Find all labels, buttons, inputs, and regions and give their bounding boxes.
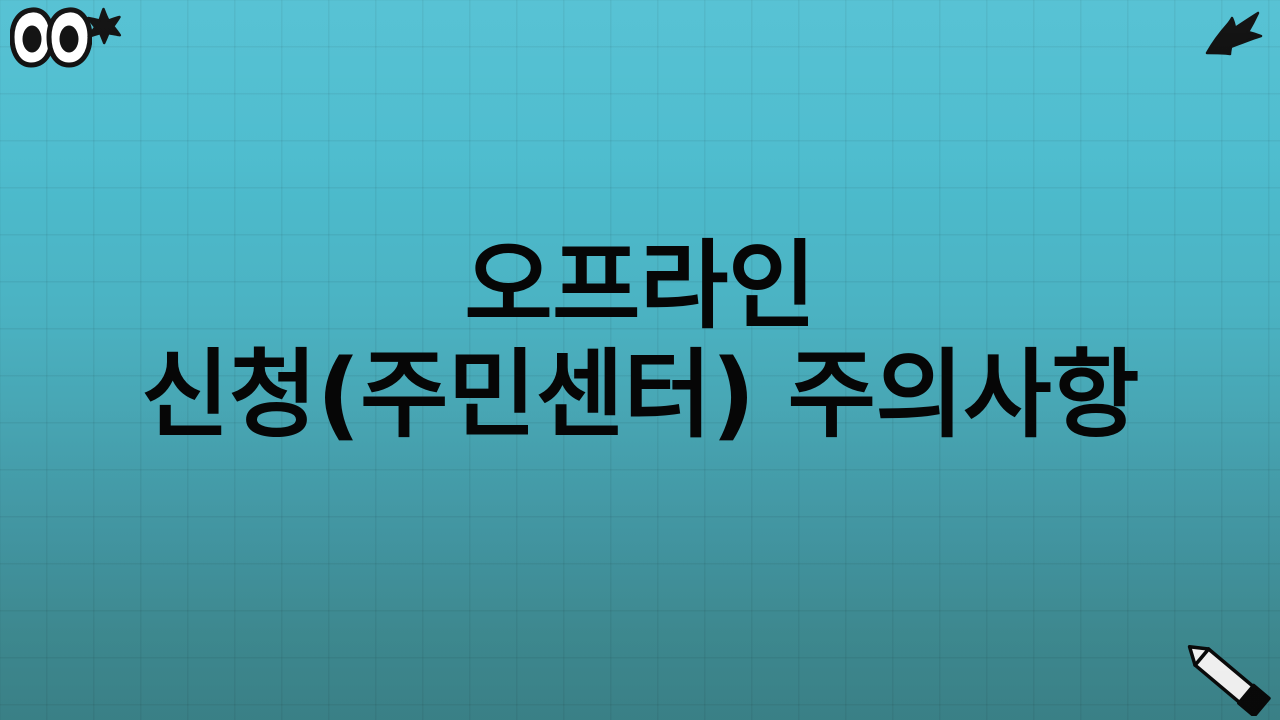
slide-canvas: 오프라인 신청(주민센터) 주의사항 [0,0,1280,720]
cursor-arrow-doodle-icon [1204,6,1266,56]
headline-line-1: 오프라인 [464,232,815,341]
headline-block: 오프라인 신청(주민센터) 주의사항 [0,232,1280,451]
headline-line-2: 신청(주민센터) 주의사항 [141,341,1139,450]
star-doodle-icon [82,4,124,46]
pencil-doodle-icon [1176,640,1276,716]
cartoon-eyes-doodle-icon [10,6,92,68]
